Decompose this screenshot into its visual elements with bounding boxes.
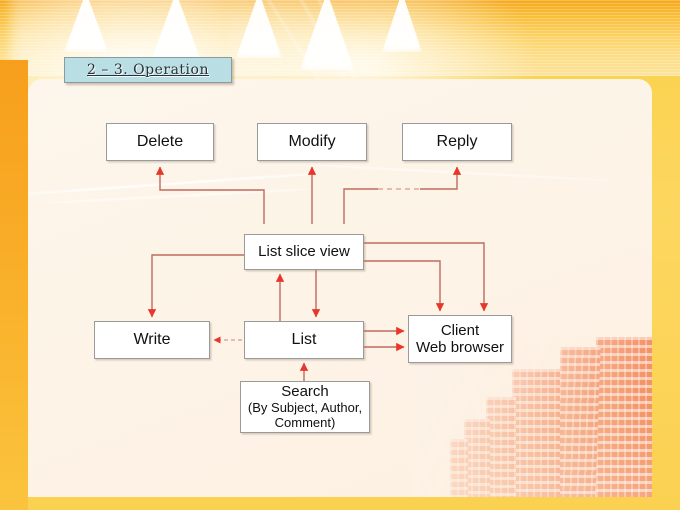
flowchart-connectors — [28, 79, 652, 497]
edge-lsv-client — [364, 243, 484, 311]
edge-lsv-client-2 — [364, 261, 440, 311]
flowchart: Delete Modify Reply List slice view Writ… — [28, 79, 652, 497]
slide-title: 2 – 3. Operation — [87, 62, 209, 78]
edge-lsv-delete — [160, 167, 264, 224]
edge-lsv-reply — [344, 167, 457, 224]
slide-canvas: 2 – 3. Operation — [0, 0, 680, 510]
edge-lsv-write — [152, 255, 244, 317]
slide-title-box: 2 – 3. Operation — [64, 57, 232, 83]
background-left-bar — [0, 60, 28, 510]
